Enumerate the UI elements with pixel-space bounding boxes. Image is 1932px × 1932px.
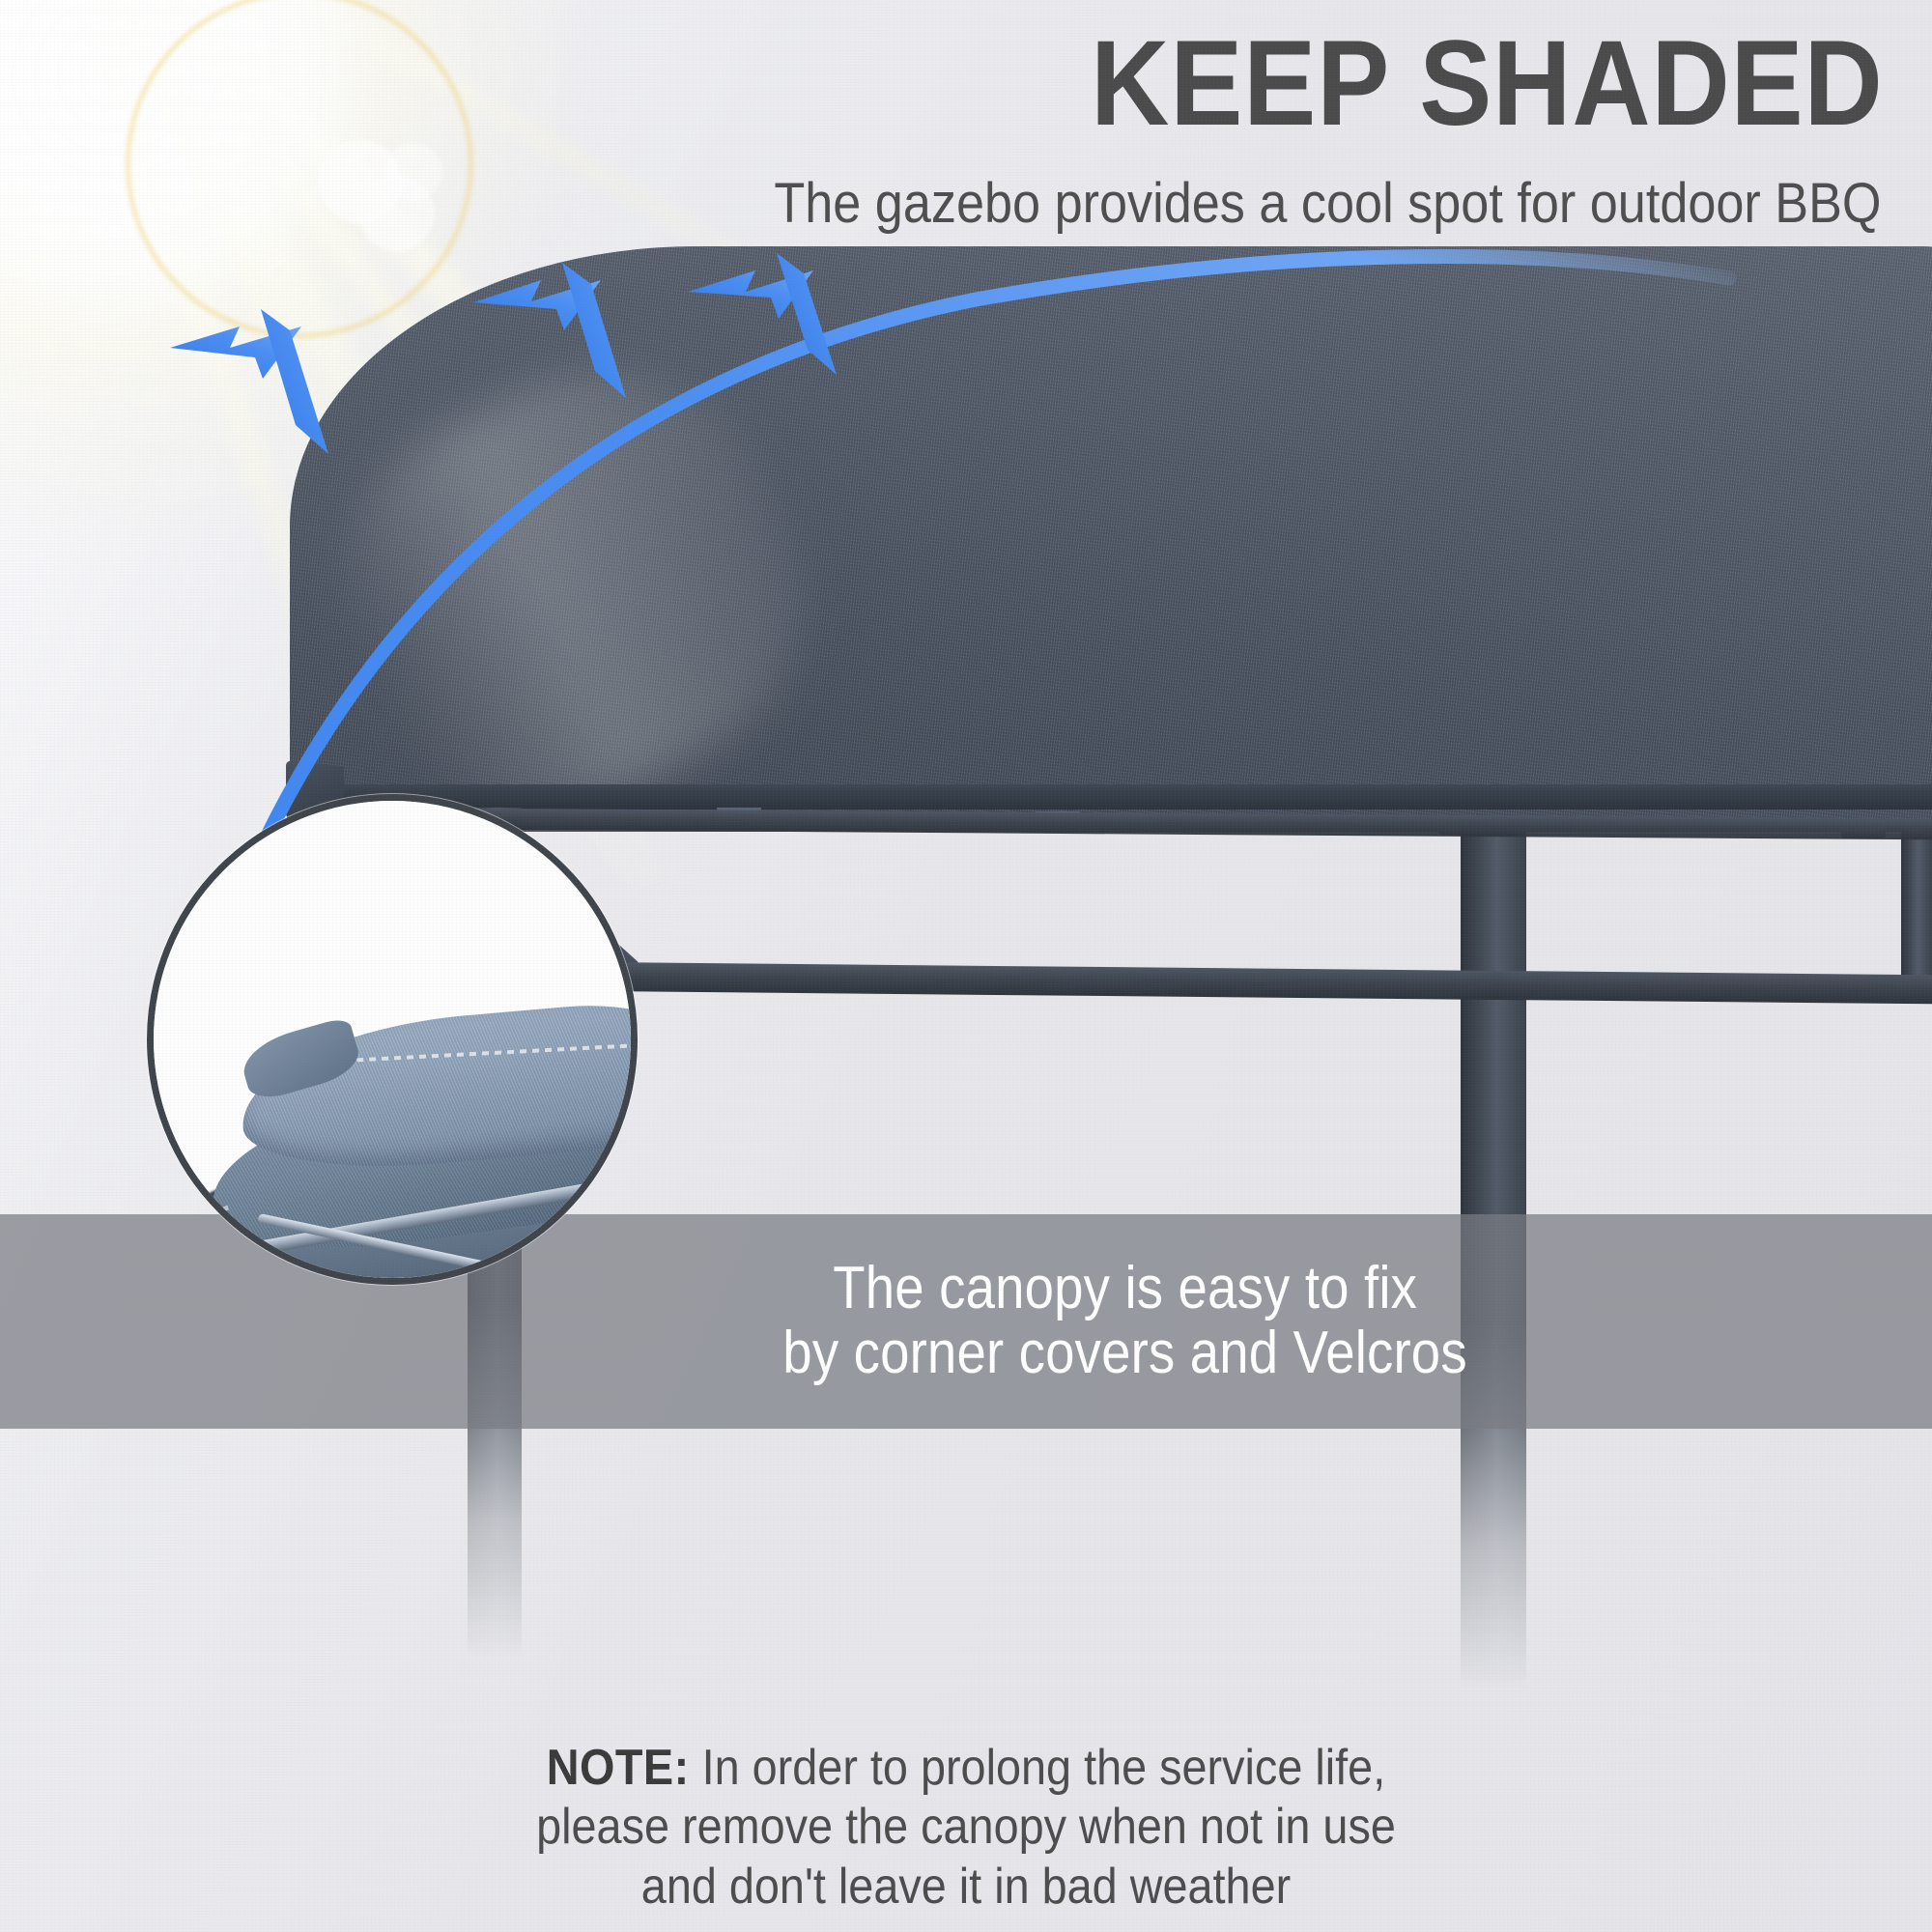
note-line-1-text: In order to prolong the service life, bbox=[690, 1740, 1386, 1796]
note-block: NOTE: In order to prolong the service li… bbox=[0, 1739, 1932, 1917]
corner-cover-photo bbox=[154, 801, 631, 1278]
caption-line-2: by corner covers and Velcros bbox=[783, 1321, 1467, 1386]
frame-crossbeam bbox=[468, 961, 1932, 1005]
page-title: KEEP SHADED bbox=[1091, 23, 1884, 144]
caption-line-1: The canopy is easy to fix bbox=[834, 1257, 1418, 1321]
note-line-3: and don't leave it in bad weather bbox=[97, 1858, 1835, 1917]
gazebo-canopy bbox=[290, 246, 1932, 826]
note-line-2: please remove the canopy when not in use bbox=[97, 1798, 1835, 1857]
poster-canvas: The canopy is easy to fix by corner cove… bbox=[0, 0, 1932, 1932]
note-label: NOTE: bbox=[547, 1740, 690, 1796]
page-subtitle: The gazebo provides a cool spot for outd… bbox=[775, 176, 1882, 232]
note-line-1: NOTE: In order to prolong the service li… bbox=[97, 1739, 1835, 1798]
lens-flare-bokeh-icon bbox=[384, 143, 442, 201]
detail-inset-circle[interactable] bbox=[147, 794, 638, 1285]
